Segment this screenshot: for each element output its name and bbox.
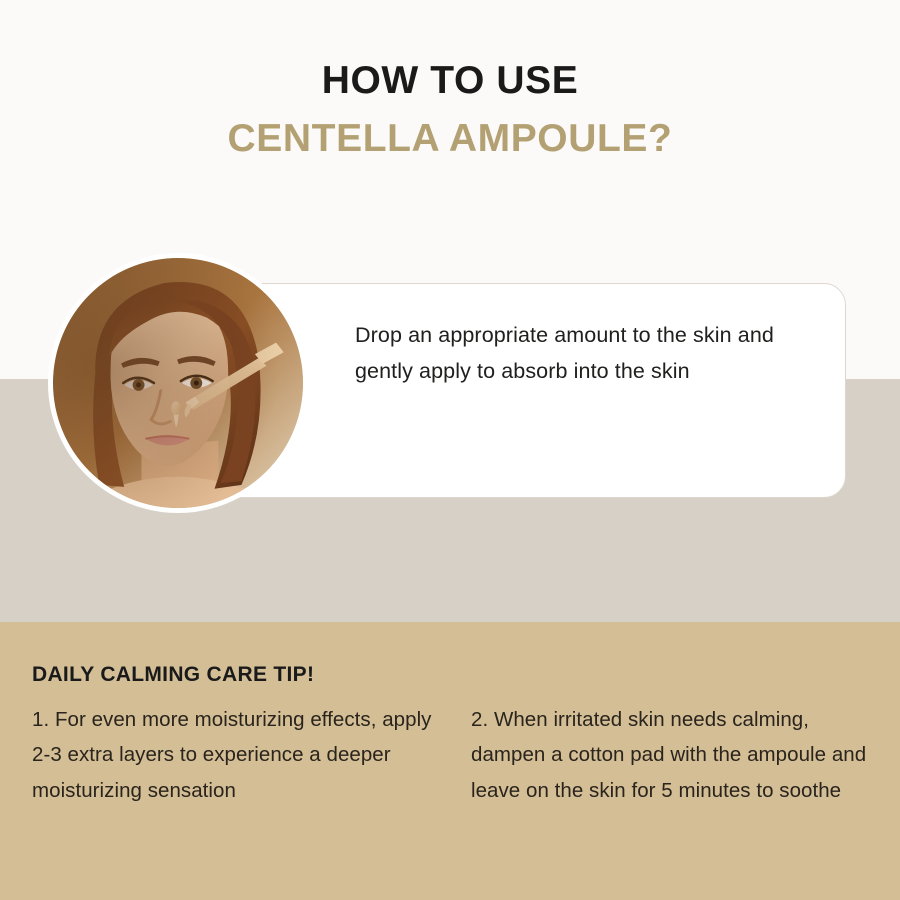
avatar [48, 253, 308, 513]
tips-heading: DAILY CALMING CARE TIP! [32, 663, 314, 687]
page-title-line-2: CENTELLA AMPOULE? [0, 116, 900, 162]
tips-columns: 1. For even more moisturizing effects, a… [32, 702, 872, 808]
page-title-line-1: HOW TO USE [0, 58, 900, 104]
tip-item-1: 1. For even more moisturizing effects, a… [32, 702, 433, 808]
instruction-card-text: Drop an appropriate amount to the skin a… [355, 318, 825, 389]
tip-item-2: 2. When irritated skin needs calming, da… [471, 702, 872, 808]
model-photo-illustration [53, 258, 303, 508]
model-photo [53, 258, 303, 508]
page-title: HOW TO USE CENTELLA AMPOULE? [0, 58, 900, 162]
how-to-use-infographic: HOW TO USE CENTELLA AMPOULE? Drop an app… [0, 0, 900, 900]
